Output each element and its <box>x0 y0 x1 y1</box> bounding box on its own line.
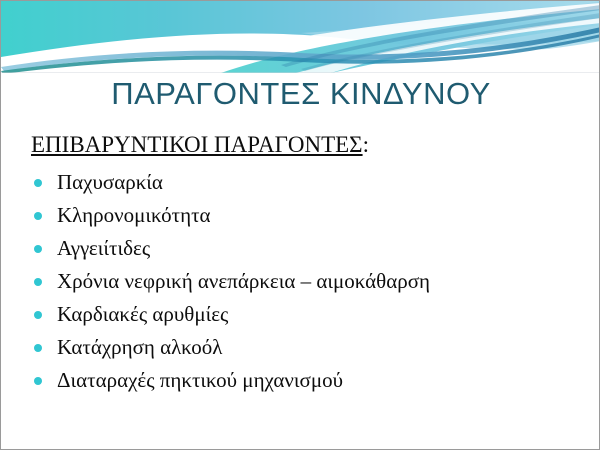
header-wave-graphic <box>1 1 600 73</box>
risk-factor-list: Παχυσαρκία Κληρονομικότητα Αγγειίτιδες Χ… <box>31 166 576 397</box>
bullet-dot-icon <box>34 344 42 352</box>
bullet-dot-icon <box>34 278 42 286</box>
subheading-colon: : <box>363 132 369 157</box>
list-item: Κατάχρηση αλκοόλ <box>31 331 576 364</box>
page-title: ΠΑΡΑΓΟΝΤΕΣ ΚΙΝΔΥΝΟΥ <box>1 75 600 113</box>
slide-body: ΕΠΙΒΑΡΥΝΤΙΚΟΙ ΠΑΡΑΓΟΝΤΕΣ: Παχυσαρκία Κλη… <box>31 130 576 397</box>
list-item: Κληρονομικότητα <box>31 199 576 232</box>
section-subheading: ΕΠΙΒΑΡΥΝΤΙΚΟΙ ΠΑΡΑΓΟΝΤΕΣ: <box>31 130 576 160</box>
list-item-label: Αγγειίτιδες <box>57 236 150 260</box>
subheading-underlined-text: ΕΠΙΒΑΡΥΝΤΙΚΟΙ ΠΑΡΑΓΟΝΤΕΣ <box>31 132 363 157</box>
bullet-dot-icon <box>34 245 42 253</box>
list-item-label: Κατάχρηση αλκοόλ <box>57 335 222 359</box>
list-item: Καρδιακές αρυθμίες <box>31 298 576 331</box>
list-item: Διαταραχές πηκτικού μηχανισμού <box>31 364 576 397</box>
list-item-label: Χρόνια νεφρική ανεπάρκεια – αιμοκάθαρση <box>57 269 430 293</box>
list-item-label: Παχυσαρκία <box>57 170 163 194</box>
bullet-dot-icon <box>34 377 42 385</box>
list-item: Αγγειίτιδες <box>31 232 576 265</box>
bullet-dot-icon <box>34 179 42 187</box>
list-item-label: Κληρονομικότητα <box>57 203 211 227</box>
list-item-label: Διαταραχές πηκτικού μηχανισμού <box>57 368 343 392</box>
list-item: Χρόνια νεφρική ανεπάρκεια – αιμοκάθαρση <box>31 265 576 298</box>
presentation-slide: ΠΑΡΑΓΟΝΤΕΣ ΚΙΝΔΥΝΟΥ ΕΠΙΒΑΡΥΝΤΙΚΟΙ ΠΑΡΑΓΟ… <box>0 0 600 450</box>
bullet-dot-icon <box>34 212 42 220</box>
header-wave-band <box>1 1 600 73</box>
list-item-label: Καρδιακές αρυθμίες <box>57 302 228 326</box>
bullet-dot-icon <box>34 311 42 319</box>
list-item: Παχυσαρκία <box>31 166 576 199</box>
